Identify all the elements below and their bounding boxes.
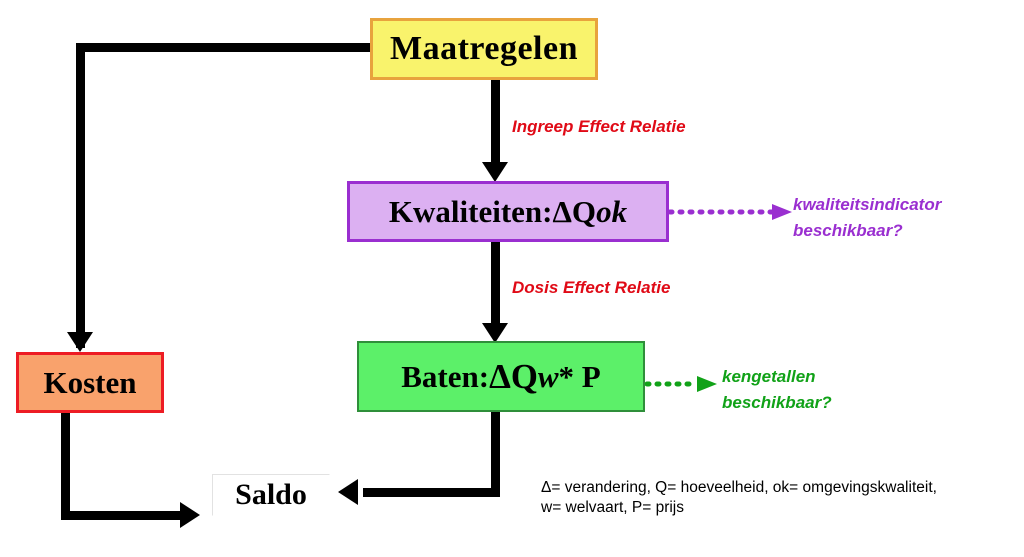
dotted-arrow-kwaliteitsindicator (668, 202, 798, 222)
diagram-canvas: Maatregelen Kwaliteiten: ΔQok Baten: ΔQw… (0, 0, 1024, 557)
annotation-kwaliteitsindicator-line2: beschikbaar? (793, 218, 941, 244)
node-kwaliteiten[interactable]: Kwaliteiten: ΔQok (347, 181, 669, 242)
annotation-kwaliteitsindicator-line1: kwaliteitsindicator (793, 192, 941, 218)
node-kosten[interactable]: Kosten (16, 352, 164, 413)
legend: Δ= verandering, Q= hoeveelheid, ok= omge… (541, 478, 937, 518)
dotted-arrow-kengetallen (645, 374, 725, 394)
node-maatregelen[interactable]: Maatregelen (370, 18, 598, 80)
annotation-kwaliteitsindicator: kwaliteitsindicator beschikbaar? (793, 192, 941, 244)
annotation-kengetallen: kengetallen beschikbaar? (722, 364, 832, 416)
connector-maatregelen-to-kosten-vertical (76, 43, 85, 348)
connector-kwaliteiten-to-baten (491, 242, 500, 332)
connector-baten-to-saldo-vertical (491, 412, 500, 497)
connector-kosten-to-saldo-vertical (61, 412, 70, 520)
edge-label-dosis-effect-relatie: Dosis Effect Relatie (512, 278, 670, 298)
node-baten-suffix: * P (559, 359, 601, 395)
legend-line1: Δ= verandering, Q= hoeveelheid, ok= omge… (541, 478, 937, 498)
connector-baten-to-saldo-horizontal (363, 488, 500, 497)
connector-maatregelen-to-kwaliteiten (491, 80, 500, 170)
node-kwaliteiten-prefix: Kwaliteiten: (389, 194, 553, 230)
node-saldo-label: Saldo (235, 478, 307, 512)
node-saldo[interactable]: Saldo (212, 474, 330, 516)
node-baten-delta: ΔQ (489, 357, 538, 397)
annotation-kengetallen-line1: kengetallen (722, 364, 832, 390)
node-baten-prefix: Baten: (401, 359, 489, 395)
node-maatregelen-label: Maatregelen (390, 30, 578, 68)
arrowhead-into-saldo-from-kosten (180, 502, 200, 528)
node-kosten-label: Kosten (44, 365, 137, 401)
edge-label-ingreep-effect-relatie: Ingreep Effect Relatie (512, 117, 686, 137)
connector-kosten-to-saldo-horizontal (61, 511, 182, 520)
arrowhead-into-baten (482, 323, 508, 343)
arrowhead-into-saldo-from-baten (338, 479, 358, 505)
node-baten-subscript: w (538, 359, 559, 395)
connector-maatregelen-to-kosten-horizontal (84, 43, 374, 52)
node-baten[interactable]: Baten: ΔQw * P (357, 341, 645, 412)
arrowhead-into-kosten (67, 332, 93, 352)
node-kwaliteiten-subscript: ok (596, 194, 627, 230)
arrowhead-into-kwaliteiten (482, 162, 508, 182)
node-kwaliteiten-delta: ΔQ (553, 194, 597, 230)
legend-line2: w= welvaart, P= prijs (541, 498, 937, 518)
annotation-kengetallen-line2: beschikbaar? (722, 390, 832, 416)
